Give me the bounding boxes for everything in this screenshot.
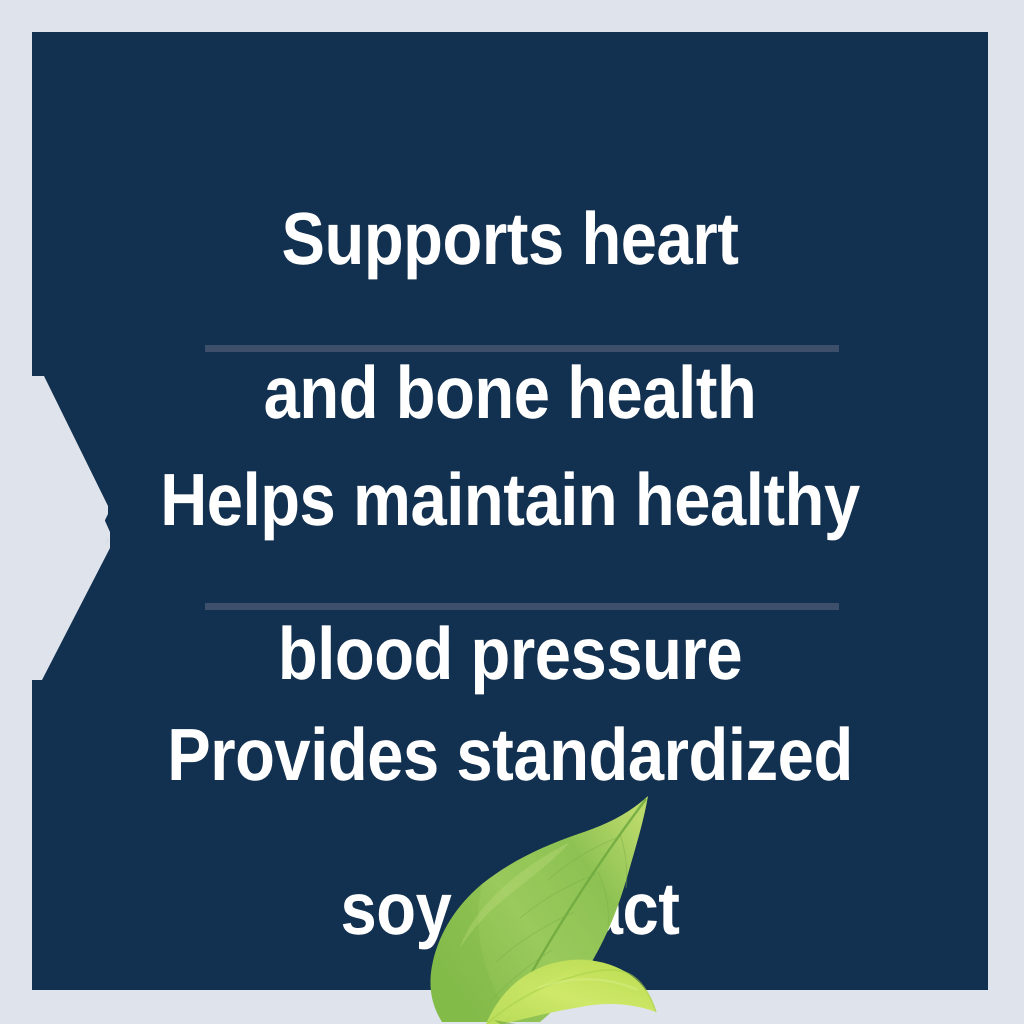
bottom-margin-band [0, 990, 1024, 1024]
section-divider [205, 345, 839, 352]
benefit-line: soy extract [89, 871, 930, 948]
section-divider [205, 603, 839, 610]
left-margin-band [0, 0, 32, 1024]
benefit-line: Supports heart [89, 201, 930, 278]
top-margin-band [0, 0, 1024, 32]
benefits-callout-graphic: Supports heart and bone health Helps mai… [0, 0, 1024, 1024]
benefit-line: Provides standardized [89, 717, 930, 794]
benefit-statement-soy-extract: Provides standardized soy extract [89, 640, 930, 990]
benefit-line: Helps maintain healthy [89, 462, 930, 539]
navy-benefits-panel: Supports heart and bone health Helps mai… [32, 32, 988, 990]
right-margin-band [988, 0, 1024, 1024]
